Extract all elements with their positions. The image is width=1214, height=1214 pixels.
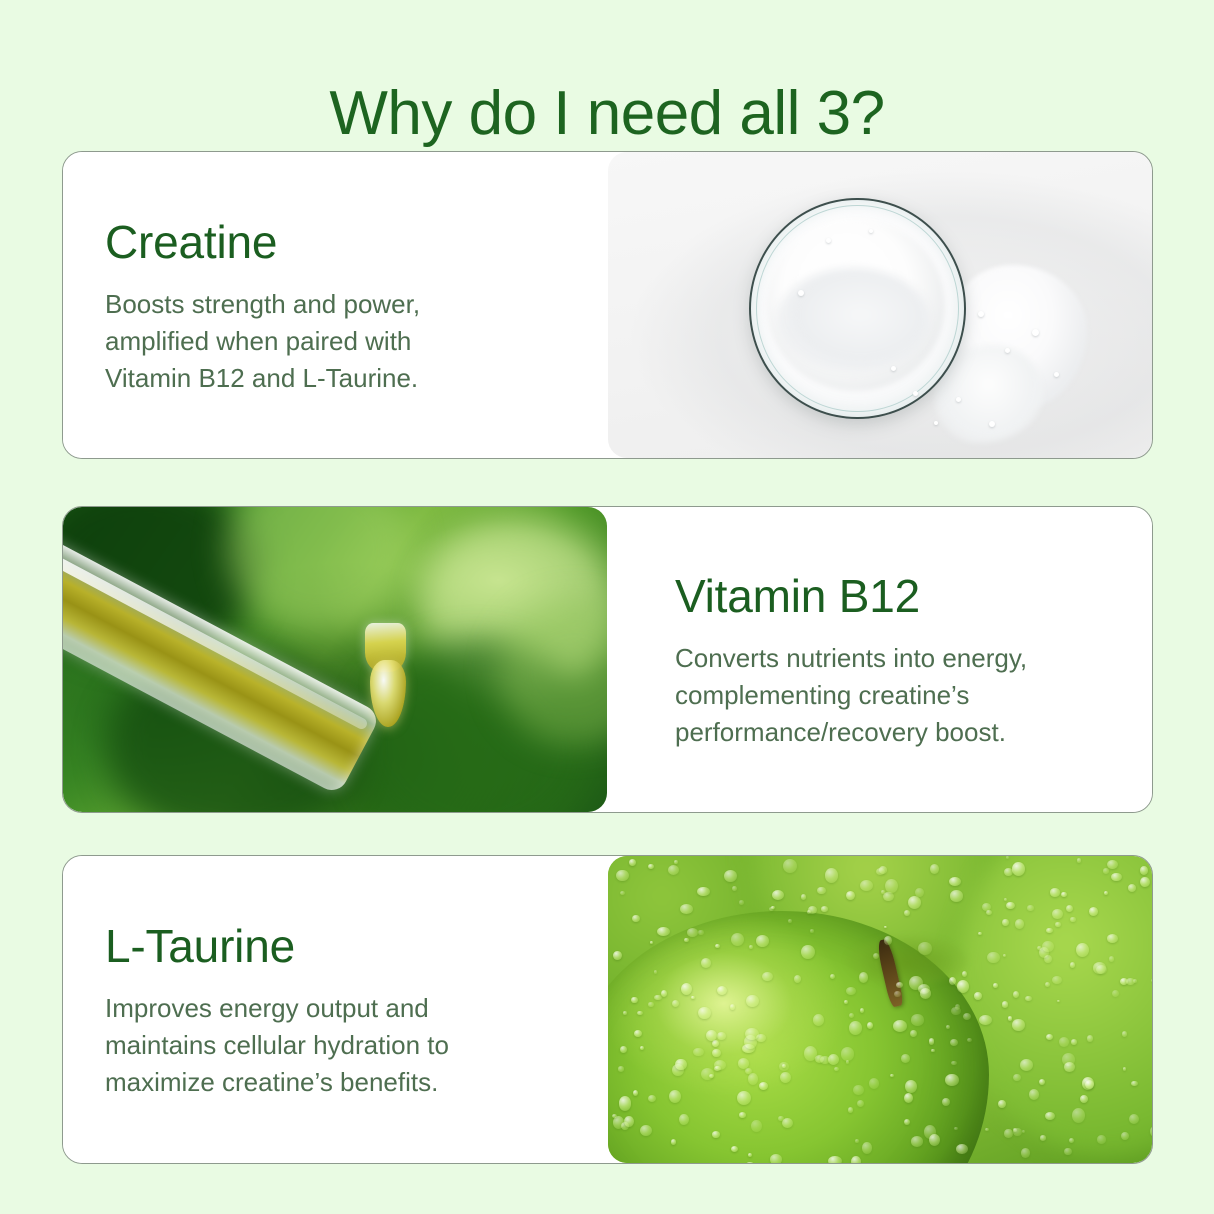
water-droplet (1064, 1062, 1075, 1072)
water-droplet (1021, 1148, 1030, 1158)
vitamin-b12-dropper-image (63, 507, 607, 812)
water-droplet (1055, 922, 1061, 926)
water-droplet (1061, 892, 1067, 897)
water-droplet (920, 988, 931, 999)
water-droplet (963, 1013, 971, 1020)
powder-grain (1005, 348, 1010, 353)
water-droplet (851, 1156, 861, 1163)
water-droplet (771, 906, 774, 909)
water-droplet (706, 1030, 717, 1041)
powder-grain (913, 391, 918, 396)
water-droplet (1064, 1148, 1071, 1156)
water-droplet (756, 935, 769, 947)
leaf-blur-shape (226, 507, 411, 632)
powder-grain (978, 311, 984, 317)
water-droplet (1027, 905, 1033, 911)
water-droplet (1002, 1001, 1009, 1007)
water-droplet (1071, 1039, 1077, 1044)
water-droplet (1070, 917, 1075, 922)
water-droplet (904, 1119, 910, 1125)
water-droplet (739, 1112, 746, 1118)
card-body: Improves energy output and maintains cel… (105, 990, 566, 1101)
creatine-powder-image (608, 152, 1152, 458)
water-droplet (1111, 873, 1122, 881)
water-droplet (717, 1032, 726, 1039)
water-droplet (783, 859, 797, 873)
water-droplet (633, 1090, 638, 1096)
water-droplet (945, 1074, 958, 1086)
water-droplet (632, 915, 639, 922)
water-droplet (762, 972, 773, 981)
water-droplet (693, 1048, 704, 1057)
powder-grain (956, 397, 961, 402)
water-droplet (884, 936, 892, 945)
ingredient-card-vitamin-b12: Vitamin B12 Converts nutrients into ener… (62, 506, 1153, 813)
water-droplet (881, 890, 884, 894)
water-droplet (749, 945, 753, 950)
water-droplet (885, 879, 898, 893)
page-title: Why do I need all 3? (0, 76, 1214, 152)
water-droplet (737, 1091, 751, 1105)
water-droplet (1006, 902, 1015, 909)
water-droplet (1109, 956, 1114, 962)
card-text-block: Vitamin B12 Converts nutrients into ener… (607, 507, 1152, 812)
water-droplet (1066, 905, 1073, 912)
water-droplet (623, 1011, 627, 1015)
water-droplet (1087, 1035, 1094, 1042)
water-droplet (751, 1120, 762, 1132)
powder-mound-shadow (777, 268, 929, 372)
water-droplet (911, 1014, 924, 1025)
water-droplet (1004, 1129, 1012, 1138)
water-droplet (1052, 909, 1062, 919)
water-droplet (620, 891, 625, 895)
water-droplet (931, 1049, 934, 1052)
ingredient-card-creatine: Creatine Boosts strength and power, ampl… (62, 151, 1153, 459)
water-droplet (950, 890, 964, 902)
water-droplet (712, 1131, 721, 1138)
water-droplet (828, 1156, 842, 1163)
water-droplet (698, 1007, 710, 1019)
water-droplet (1046, 928, 1053, 933)
water-droplet (672, 1000, 679, 1007)
water-droplet (1096, 965, 1107, 974)
water-droplet (1146, 1153, 1152, 1163)
card-heading: Vitamin B12 (675, 568, 1122, 624)
water-droplet (629, 859, 636, 866)
water-droplet (619, 1096, 632, 1110)
water-droplet (950, 1039, 958, 1046)
card-heading: L-Taurine (105, 918, 566, 974)
water-droplet (634, 1030, 642, 1037)
card-heading: Creatine (105, 214, 566, 270)
water-droplet (974, 992, 982, 1000)
water-droplet (1040, 1135, 1046, 1140)
water-droplet (759, 1082, 769, 1090)
water-droplet (869, 1078, 879, 1088)
water-droplet (986, 910, 992, 915)
water-droplet (1107, 860, 1118, 869)
water-droplet (1029, 1089, 1040, 1100)
water-droplet (1129, 1114, 1139, 1124)
water-droplet (993, 983, 998, 988)
water-droplet (834, 1067, 839, 1072)
water-droplet (901, 1054, 910, 1063)
water-droplet (810, 929, 814, 932)
water-droplet (1069, 1138, 1074, 1143)
water-droplet (668, 865, 679, 875)
water-droplet (748, 1073, 758, 1085)
water-droplet (669, 1090, 681, 1103)
water-droplet (853, 1085, 864, 1095)
water-droplet (873, 953, 879, 959)
water-droplet (1140, 877, 1149, 887)
water-droplet (687, 928, 699, 937)
water-droplet (1006, 856, 1009, 859)
water-droplet (804, 1046, 817, 1061)
powder-grain (826, 238, 831, 243)
water-droplet (855, 1139, 859, 1143)
water-droplet (817, 887, 825, 895)
water-droplet (1050, 888, 1060, 896)
card-text-block: L-Taurine Improves energy output and mai… (63, 856, 608, 1163)
water-droplet (867, 1022, 873, 1029)
water-droplet (1045, 1112, 1055, 1120)
water-droplet (985, 1128, 989, 1131)
water-droplet (654, 970, 658, 974)
water-droplet (830, 974, 835, 979)
water-droplet (1097, 1135, 1107, 1144)
water-droplet (957, 980, 969, 993)
water-droplet (1045, 982, 1050, 987)
powder-grain (934, 421, 938, 425)
water-droplet (620, 1046, 627, 1053)
water-droplet (770, 1154, 782, 1163)
water-droplet (745, 1028, 759, 1040)
water-droplet (698, 930, 703, 935)
water-droplet (1022, 1130, 1025, 1133)
water-droplet (1039, 1079, 1045, 1085)
water-droplet (640, 1046, 644, 1050)
water-droplet (631, 997, 637, 1004)
water-droplet (717, 986, 727, 995)
water-droplet (1008, 1016, 1013, 1021)
water-droplet (849, 1021, 862, 1035)
water-droplet (821, 906, 828, 912)
water-droplet (801, 894, 806, 899)
water-droplet (911, 1136, 923, 1146)
card-text-block: Creatine Boosts strength and power, ampl… (63, 152, 608, 458)
infographic-page: Why do I need all 3? Creatine Boosts str… (0, 0, 1214, 1214)
water-droplet (679, 1114, 689, 1125)
water-droplet (1103, 868, 1110, 873)
water-droplet (844, 1000, 848, 1004)
water-droplet (1121, 1132, 1129, 1140)
ingredient-card-l-taurine: L-Taurine Improves energy output and mai… (62, 855, 1153, 1164)
water-droplet (846, 891, 855, 900)
water-droplet (782, 1118, 792, 1128)
powder-grain (869, 229, 873, 233)
water-droplet (904, 910, 910, 916)
water-droplet (1077, 858, 1082, 862)
water-droplet (1080, 1095, 1088, 1103)
water-droplet (675, 1059, 687, 1071)
water-droplet (1013, 1128, 1022, 1136)
water-droplet (714, 1060, 726, 1070)
water-droplet (1104, 891, 1108, 895)
water-droplet (1012, 1019, 1025, 1031)
water-droplet (640, 1125, 652, 1136)
water-droplet (987, 952, 999, 963)
card-body: Converts nutrients into energy, compleme… (675, 640, 1122, 751)
water-droplet (1151, 979, 1152, 982)
water-droplet (715, 944, 720, 948)
water-droplet (648, 1002, 654, 1007)
water-droplet (1013, 1074, 1021, 1082)
card-body: Boosts strength and power, amplified whe… (105, 286, 566, 397)
water-droplet (613, 951, 622, 960)
water-droplet (857, 1100, 864, 1107)
water-droplet (1131, 1081, 1137, 1086)
water-droplet (1085, 1080, 1094, 1089)
water-droplet (908, 896, 921, 909)
green-apple-image (608, 856, 1152, 1163)
water-droplet (890, 1074, 894, 1077)
water-droplet (780, 1072, 791, 1083)
water-droplet (956, 1144, 967, 1154)
water-droplet (746, 995, 758, 1007)
water-droplet (860, 880, 873, 891)
water-droplet (825, 868, 838, 883)
background-apple (956, 856, 1152, 1157)
water-droplet (1012, 862, 1025, 876)
water-droplet (894, 991, 901, 998)
water-droplet (893, 1020, 907, 1032)
water-droplet (883, 892, 893, 902)
water-droplet (712, 1049, 721, 1058)
water-droplet (657, 927, 670, 936)
water-droplet (772, 890, 784, 900)
water-droplet (918, 942, 931, 955)
water-droplet (846, 1060, 850, 1063)
